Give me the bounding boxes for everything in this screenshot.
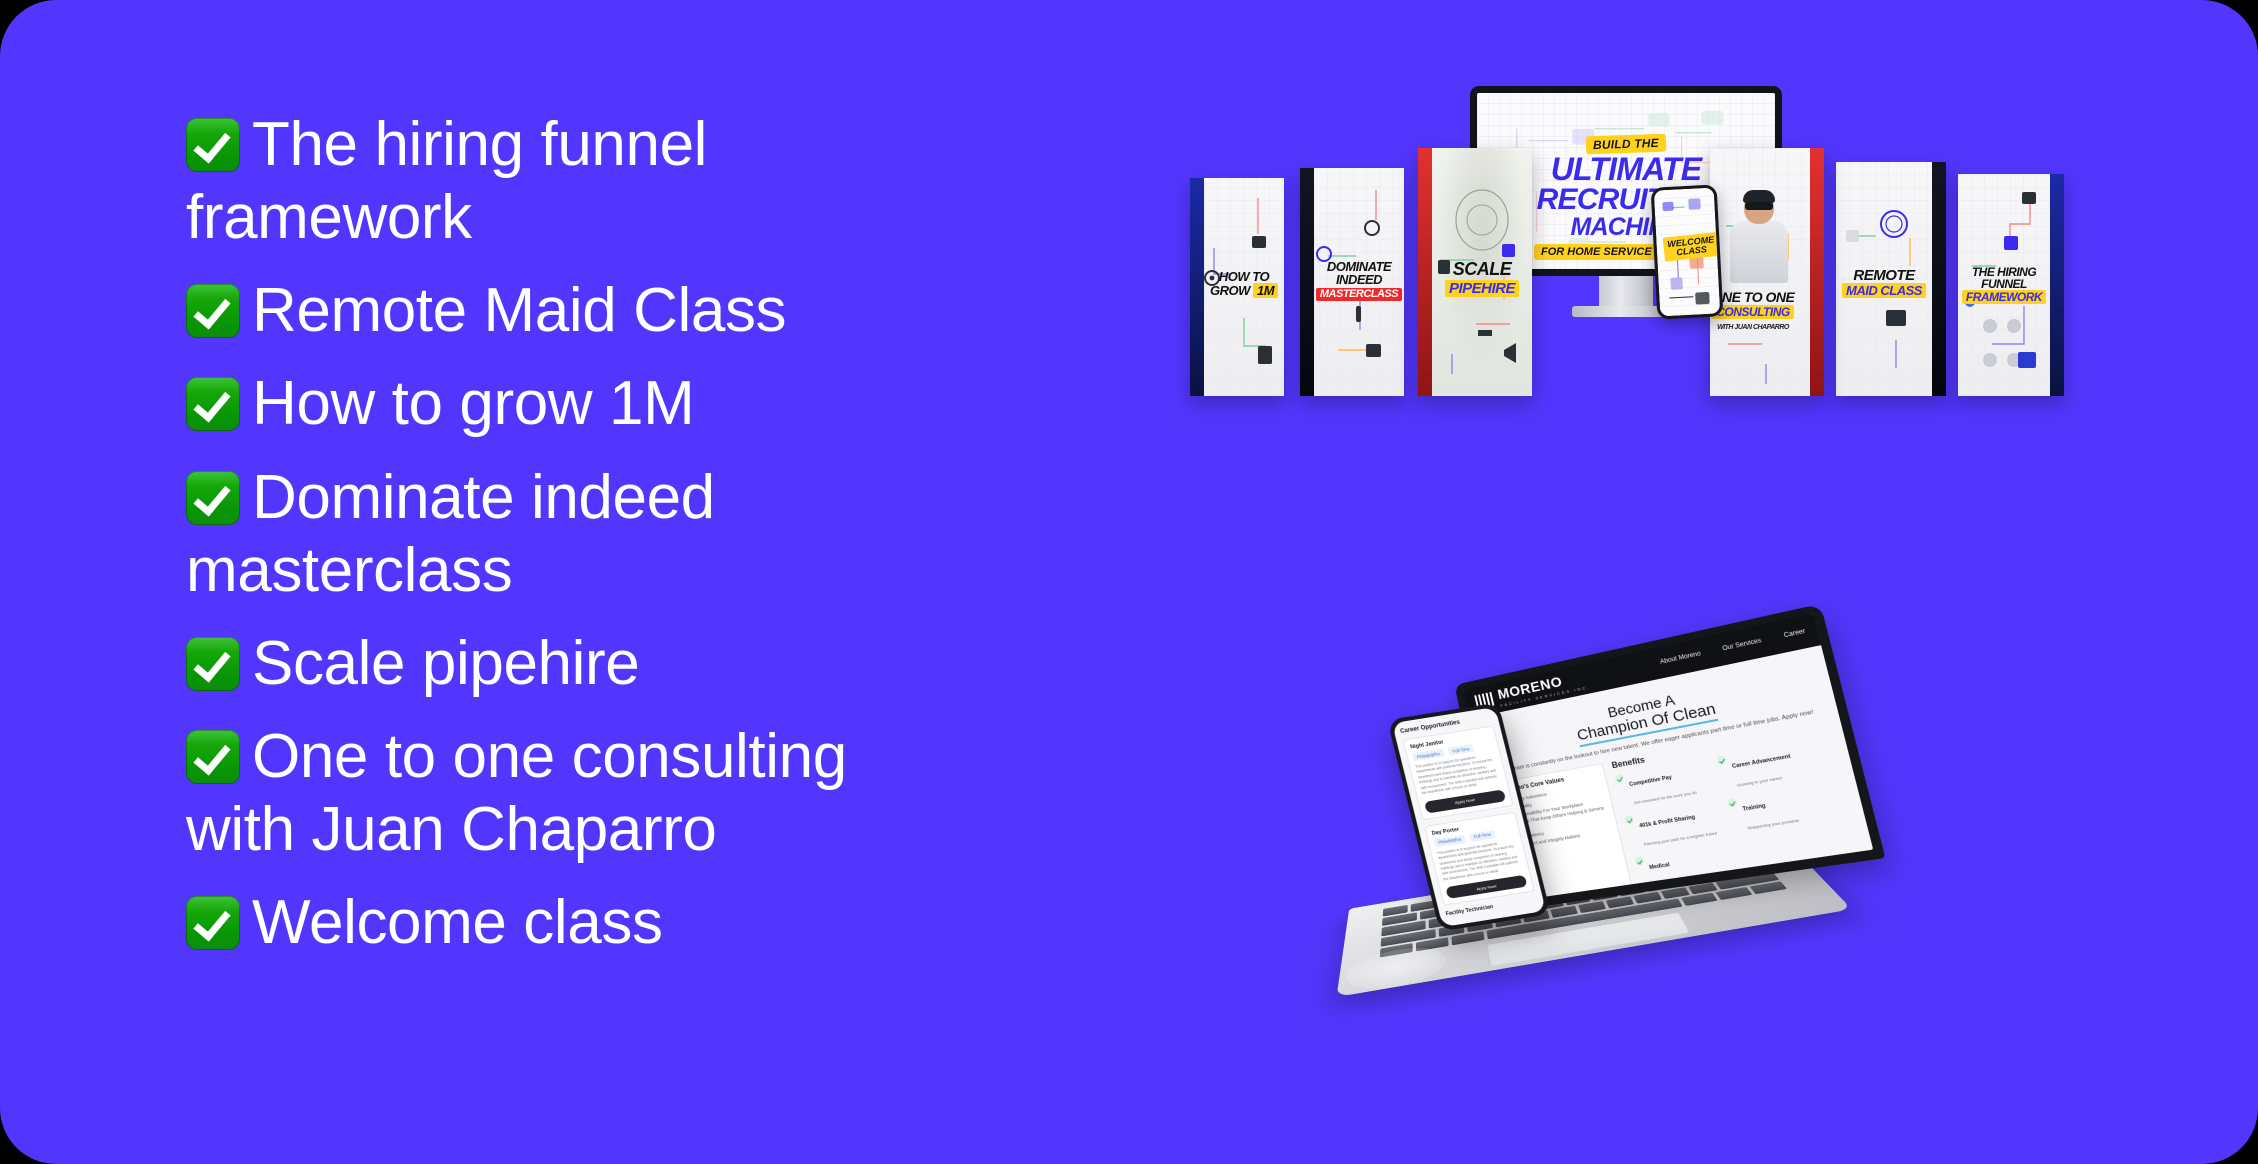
monitor-neck [1599, 276, 1653, 306]
laptop-phone-mockup: MORENO FACILITY SERVICES INC. About More… [1355, 660, 1875, 1120]
benefit-item: 401k & Profit SharingPlanning your path … [1624, 802, 1725, 853]
box-face: DOMINATE INDEED MASTERCLASS [1314, 168, 1404, 396]
benefit-note: Growing in your career [1736, 775, 1783, 788]
nav-item-about[interactable]: About Moreno [1660, 651, 1702, 666]
benefit-note: Get rewarded for the work you do [1633, 790, 1697, 806]
benefit-name: 401k & Profit Sharing [1639, 815, 1696, 830]
box-spine [1418, 148, 1432, 396]
instructor-photo [1730, 192, 1788, 283]
box-title-line2: FUNNEL [1981, 277, 2027, 291]
box-face: REMOTE MAID CLASS [1836, 162, 1932, 396]
product-box-how-to-grow-1m: HOW TO GROW 1M [1190, 178, 1284, 396]
list-item-label: Welcome class [252, 888, 663, 957]
list-item: Scale pipehire [186, 627, 926, 700]
box-title: ONE TO ONE CONSULTING WITH JUAN CHAPARRO [1710, 290, 1804, 331]
box-face: ONE TO ONE CONSULTING WITH JUAN CHAPARRO [1710, 148, 1810, 396]
box-spine [1932, 162, 1946, 396]
list-item: Welcome class [186, 886, 926, 959]
check-circle-icon [1614, 774, 1624, 783]
base-highlight [1344, 942, 1448, 996]
product-bundle-mockup: BUILD THE ULTIMATE RECRUITING MACHINE FO… [1190, 86, 2090, 396]
box-title: HOW TO GROW 1M [1204, 270, 1284, 298]
check-circle-icon [1727, 798, 1738, 808]
welcome-class-phone-mockup: WELCOME CLASS [1651, 184, 1724, 319]
list-item-label: The hiring funnel framework [186, 110, 724, 252]
monitor-kicker: BUILD THE [1586, 134, 1666, 155]
box-face: SCALE PIPEHIRE [1432, 148, 1532, 396]
box-title: DOMINATE INDEED MASTERCLASS [1314, 260, 1404, 301]
nav-item-services[interactable]: Our Services [1722, 638, 1762, 653]
box-title-line1: HOW TO [1219, 269, 1269, 284]
white-check-mark-icon [186, 637, 240, 691]
box-title-line2: INDEED [1336, 272, 1382, 287]
benefit-note: Sharpening your prowess [1747, 818, 1800, 831]
product-box-dominate-indeed: DOMINATE INDEED MASTERCLASS [1300, 168, 1404, 396]
box-spine [1810, 148, 1824, 396]
check-circle-icon [1716, 756, 1727, 766]
list-item: Remote Maid Class [186, 274, 926, 347]
product-box-one-to-one-consulting: ONE TO ONE CONSULTING WITH JUAN CHAPARRO [1710, 148, 1824, 396]
list-item-label: One to one consulting with Juan Chaparro [186, 722, 864, 864]
box-title-highlight: MASTERCLASS [1316, 288, 1402, 301]
benefits-list: The hiring funnel framework Remote Maid … [186, 108, 926, 980]
benefit-name: Training [1742, 803, 1766, 813]
box-title-line1: REMOTE [1853, 267, 1914, 284]
white-check-mark-icon [186, 896, 240, 950]
list-item-label: How to grow 1M [252, 369, 694, 438]
box-title-highlight: 1M [1253, 283, 1278, 298]
box-spine [2050, 174, 2064, 396]
phone-job-tag-location: Philadelphia [1412, 749, 1445, 762]
list-item-label: Remote Maid Class [252, 276, 786, 345]
list-item: Dominate indeed masterclass [186, 461, 926, 607]
phone-job-tag-type: Full-Time [1469, 830, 1496, 842]
list-item: How to grow 1M [186, 367, 926, 440]
list-item: One to one consulting with Juan Chaparro [186, 720, 926, 866]
phone-job-body: This position is to support the operatio… [1415, 753, 1502, 797]
benefit-name: Medical [1649, 862, 1671, 871]
box-spine [1300, 168, 1314, 396]
white-check-mark-icon [186, 730, 240, 784]
white-check-mark-icon [186, 471, 240, 525]
instructor-body [1730, 221, 1788, 283]
box-title: REMOTE MAID CLASS [1836, 268, 1932, 298]
benefit-name: Competitive Pay [1629, 775, 1673, 789]
phone-job-listing[interactable]: Night Janitor Philadelphia Full-Time Thi… [1402, 725, 1513, 820]
nav-item-career[interactable]: Career [1783, 629, 1806, 640]
box-title-line1: ONE TO ONE [1712, 289, 1795, 305]
phone-screen: WELCOME CLASS [1654, 188, 1721, 317]
box-title-line2: GROW [1210, 283, 1250, 298]
box-title: THE HIRING FUNNEL FRAMEWORK [1958, 266, 2050, 304]
product-box-remote-maid-class: REMOTE MAID CLASS [1836, 162, 1946, 396]
box-spine [1190, 178, 1204, 396]
benefit-name: Career Advancement [1732, 754, 1792, 771]
sunglasses-icon [1745, 202, 1773, 210]
box-title-highlight: PIPEHIRE [1445, 280, 1519, 297]
check-circle-icon [1624, 815, 1634, 824]
product-box-the-hiring-funnel: THE HIRING FUNNEL FRAMEWORK [1958, 174, 2064, 396]
list-item-label: Dominate indeed masterclass [186, 463, 732, 605]
product-box-scale-pipehire: SCALE PIPEHIRE [1418, 148, 1532, 396]
box-title-line1: SCALE [1453, 259, 1512, 279]
phone-job-tag-type: Full-Time [1447, 744, 1474, 756]
white-check-mark-icon [186, 377, 240, 431]
white-check-mark-icon [186, 284, 240, 338]
phone-job-listing[interactable]: Day Porter Philadelphia Full-Time This p… [1424, 811, 1535, 906]
box-title: SCALE PIPEHIRE [1432, 260, 1532, 297]
box-title-highlight: MAID CLASS [1842, 283, 1926, 298]
instructor-head [1744, 192, 1774, 224]
box-title-highlight: CONSULTING [1712, 305, 1793, 319]
box-face: HOW TO GROW 1M [1204, 178, 1284, 396]
list-item: The hiring funnel framework [186, 108, 926, 254]
laptop-mockup: MORENO FACILITY SERVICES INC. About More… [1300, 630, 1929, 1149]
phone-job-body: This position is to support the operatio… [1436, 838, 1523, 882]
phone-job-tag-location: Philadelphia [1433, 835, 1466, 848]
slide-canvas: The hiring funnel framework Remote Maid … [0, 0, 2258, 1164]
check-circle-icon [1634, 857, 1644, 866]
welcome-badge-line2: CLASS [1676, 244, 1707, 257]
box-title-highlight: FRAMEWORK [1962, 290, 2046, 304]
box-title-footnote: WITH JUAN CHAPARRO [1710, 324, 1804, 331]
list-item-label: Scale pipehire [252, 629, 639, 698]
benefit-note: Planning your path for a brighter future [1643, 831, 1717, 848]
box-face: THE HIRING FUNNEL FRAMEWORK [1958, 174, 2050, 396]
white-check-mark-icon [186, 118, 240, 172]
